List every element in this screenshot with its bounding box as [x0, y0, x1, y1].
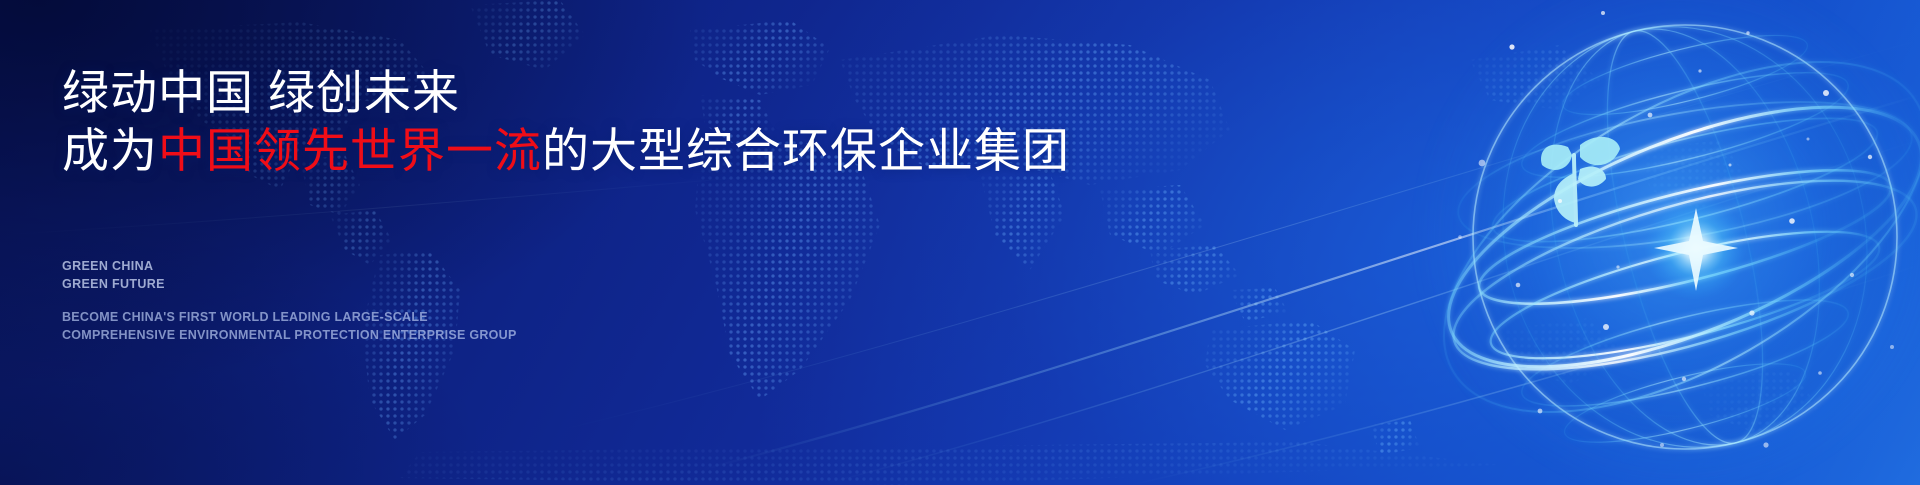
headline-prefix: 成为 — [62, 124, 158, 177]
wireframe-globe-icon — [1400, 0, 1920, 485]
hero-banner: 绿动中国 绿创未来 成为中国领先世界一流的大型综合环保企业集团 GREEN CH… — [0, 0, 1920, 485]
headline-block: 绿动中国 绿创未来 成为中国领先世界一流的大型综合环保企业集团 — [62, 66, 1062, 177]
headline-line-2: 成为中国领先世界一流的大型综合环保企业集团 — [62, 124, 1062, 178]
headline-line-1: 绿动中国 绿创未来 — [62, 66, 1062, 120]
description-english: BECOME CHINA'S FIRST WORLD LEADING LARGE… — [62, 309, 517, 345]
globe-graphic — [1400, 0, 1920, 485]
subtitle-line-1: GREEN CHINA — [62, 258, 165, 276]
globe-glow — [1400, 0, 1920, 485]
headline-suffix: 的大型综合环保企业集团 — [542, 124, 1070, 177]
headline-highlight: 中国领先世界一流 — [158, 124, 542, 177]
subtitle-line-2: GREEN FUTURE — [62, 276, 165, 294]
description-line-1: BECOME CHINA'S FIRST WORLD LEADING LARGE… — [62, 309, 517, 327]
light-burst-icon — [1644, 196, 1748, 300]
green-sprout-icon — [1541, 137, 1620, 225]
subtitle-english: GREEN CHINA GREEN FUTURE — [62, 258, 165, 294]
description-line-2: COMPREHENSIVE ENVIRONMENTAL PROTECTION E… — [62, 327, 517, 345]
